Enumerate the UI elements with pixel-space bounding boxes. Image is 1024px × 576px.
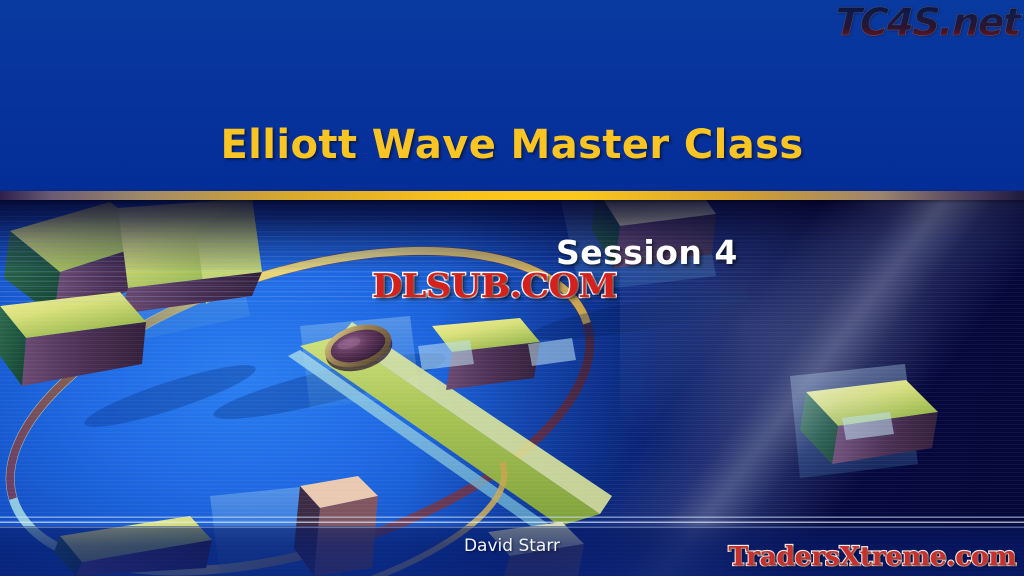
artwork-region [0, 196, 1024, 576]
tc4s-watermark: TC4S.net [834, 0, 1020, 44]
tradersxtreme-watermark: TradersXtreme.com [728, 542, 1016, 572]
gold-divider [0, 191, 1024, 200]
presentation-slide: Elliott Wave Master Class TC4S.net TC4S.… [0, 0, 1024, 576]
footer-divider-lines [0, 514, 1024, 530]
dlsub-watermark: DLSUB.COM [372, 266, 617, 305]
page-title: Elliott Wave Master Class [0, 122, 1024, 168]
